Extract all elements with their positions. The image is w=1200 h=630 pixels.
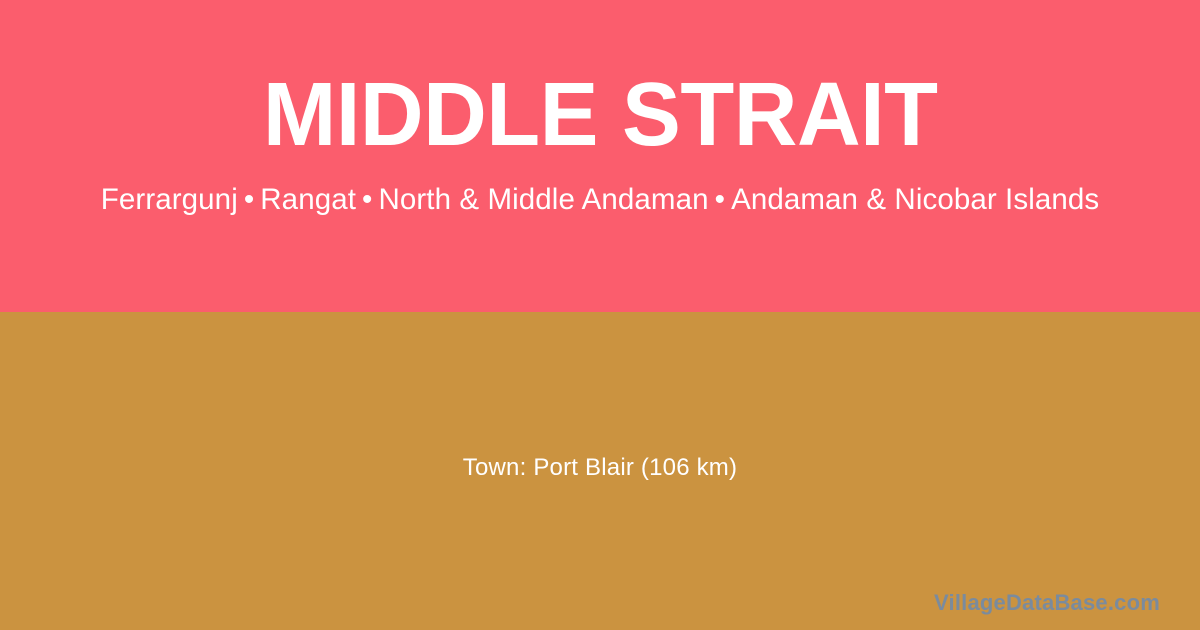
page-title: MIDDLE STRAIT: [263, 70, 938, 160]
breadcrumb-separator: •: [238, 182, 260, 217]
breadcrumb-item-district: North & Middle Andaman: [378, 183, 708, 216]
breadcrumb-item-subdistrict: Rangat: [260, 183, 356, 216]
breadcrumb-item-block: Ferrargunj: [101, 183, 238, 216]
detail-panel: Town: Port Blair (106 km) VillageDataBas…: [0, 312, 1200, 630]
header-banner: MIDDLE STRAIT Ferrargunj•Rangat•North & …: [0, 0, 1200, 312]
site-watermark: VillageDataBase.com: [934, 590, 1160, 616]
detail-panel-center: Town: Port Blair (106 km): [0, 312, 1200, 630]
nearest-town-distance: Town: Port Blair (106 km): [463, 454, 737, 483]
breadcrumb: Ferrargunj•Rangat•North & Middle Andaman…: [101, 182, 1099, 217]
village-info-card: MIDDLE STRAIT Ferrargunj•Rangat•North & …: [0, 0, 1200, 630]
breadcrumb-item-state: Andaman & Nicobar Islands: [731, 183, 1099, 216]
breadcrumb-separator: •: [709, 182, 731, 217]
breadcrumb-separator: •: [356, 182, 378, 217]
